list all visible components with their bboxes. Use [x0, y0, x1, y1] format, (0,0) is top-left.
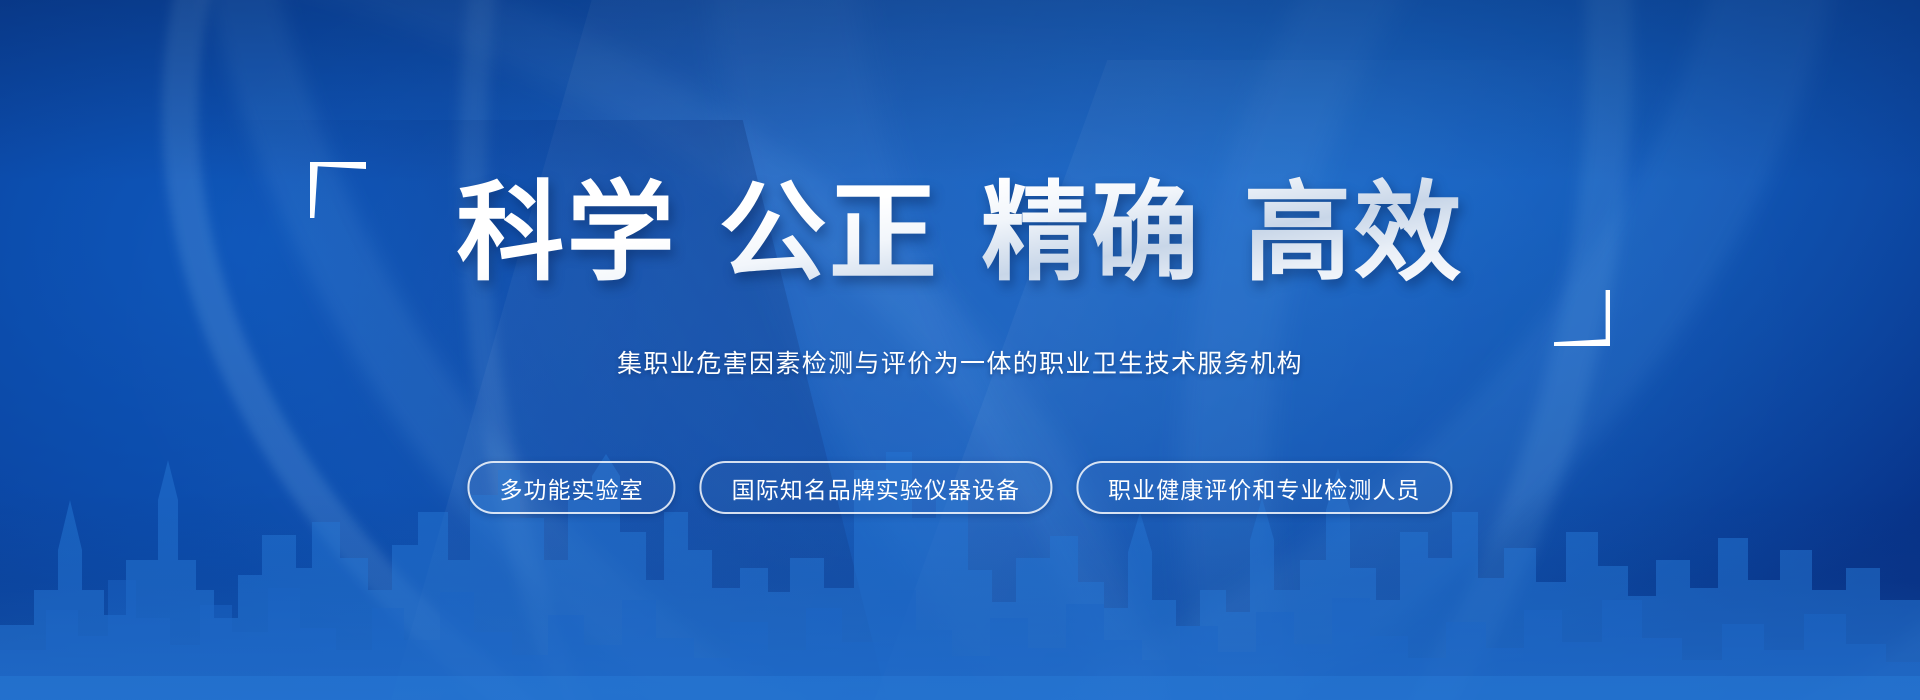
- headline-wrapper: 科学公正精确高效: [310, 168, 1610, 328]
- banner-content: 科学公正精确高效 集职业危害因素检测与评价为一体的职业卫生技术服务机构 多功能实…: [0, 0, 1920, 700]
- banner-subtitle: 集职业危害因素检测与评价为一体的职业卫生技术服务机构: [617, 344, 1303, 380]
- feature-pill-equipment-label: 国际知名品牌实验仪器设备: [732, 471, 1020, 505]
- headline-word-3: 精确: [981, 172, 1201, 293]
- feature-pill-equipment[interactable]: 国际知名品牌实验仪器设备: [700, 461, 1052, 514]
- feature-pill-lab-label: 多功能实验室: [499, 471, 643, 505]
- bracket-open-icon: [310, 162, 366, 218]
- hero-banner: 科学公正精确高效 集职业危害因素检测与评价为一体的职业卫生技术服务机构 多功能实…: [0, 0, 1920, 700]
- bracket-close-icon: [1554, 290, 1610, 346]
- feature-pill-lab[interactable]: 多功能实验室: [467, 461, 675, 514]
- headline-word-1: 科学: [456, 172, 676, 293]
- feature-pill-group: 多功能实验室 国际知名品牌实验仪器设备 职业健康评价和专业检测人员: [467, 461, 1452, 514]
- feature-pill-staff[interactable]: 职业健康评价和专业检测人员: [1076, 461, 1452, 514]
- feature-pill-staff-label: 职业健康评价和专业检测人员: [1108, 471, 1420, 505]
- page-title: 科学公正精确高效: [456, 168, 1463, 298]
- headline-word-2: 公正: [719, 172, 939, 293]
- headline-word-4: 高效: [1243, 172, 1463, 293]
